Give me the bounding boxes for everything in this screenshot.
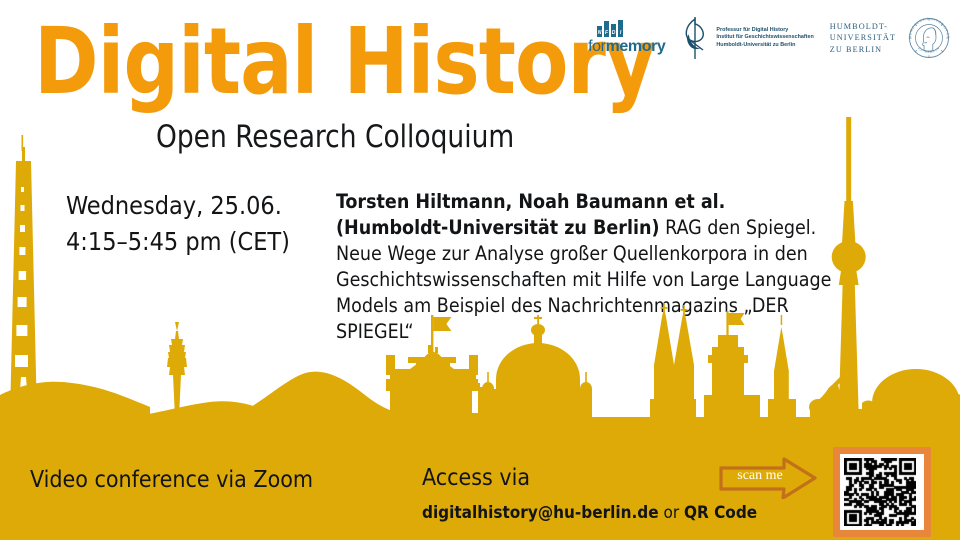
access-or: or xyxy=(659,503,684,523)
access-details: digitalhistory@hu-berlin.de or QR Code xyxy=(422,503,757,523)
formemory-prefix: for xyxy=(588,38,605,55)
hu-seal-icon: HUMBOLDT-UNIVERSITÄT ZU BERLIN xyxy=(904,13,954,63)
qr-code[interactable] xyxy=(844,458,916,526)
hu-wordmark: HUMBOLDT- UNIVERSITÄT ZU BERLIN xyxy=(830,21,896,56)
professur-line-1: Professur für Digital History xyxy=(716,27,813,35)
nfdi-bar-letter: D xyxy=(611,30,616,36)
professur-line-3: Humboldt-Universität zu Berlin xyxy=(716,42,813,50)
title-block: Digital History Open Research Colloquium xyxy=(34,16,614,146)
hu-line-1: HUMBOLDT- xyxy=(830,21,896,33)
event-datetime: Wednesday, 25.06. 4:15–5:45 pm (CET) xyxy=(66,188,290,260)
event-time: 4:15–5:45 pm (CET) xyxy=(66,224,290,260)
event-date: Wednesday, 25.06. xyxy=(66,188,290,224)
humboldt-universitaet-logo: HUMBOLDT- UNIVERSITÄT ZU BERLIN xyxy=(830,13,954,63)
formemory-wordmark: formemory xyxy=(588,38,665,56)
formemory-main: memory xyxy=(606,38,666,55)
access-email[interactable]: digitalhistory@hu-berlin.de xyxy=(422,503,659,523)
nfdi-bar-letter: F xyxy=(604,30,609,36)
nfdi-bar-letter: I xyxy=(618,30,623,36)
hu-seal-bottom-text: ZU BERLIN xyxy=(917,46,940,54)
qr-code-quiet-zone xyxy=(840,454,924,530)
svg-text:ZU BERLIN: ZU BERLIN xyxy=(917,46,940,54)
professur-text-block: Professur für Digital History Institut f… xyxy=(716,27,813,50)
nfdi-bars-icon: N F D I xyxy=(597,20,623,37)
nfdi4memory-logo: N F D I formemory xyxy=(588,20,665,56)
page-subtitle: Open Research Colloquium xyxy=(156,120,514,154)
nfdi-bar-letter: N xyxy=(597,30,602,36)
access-heading: Access via xyxy=(422,465,530,491)
talk-info: Torsten Hiltmann, Noah Baumann et al. (H… xyxy=(336,189,836,345)
professur-line-2: Institut für Geschichtswissenschaften xyxy=(716,34,813,42)
logo-bar: N F D I formemory Professur für Digital … xyxy=(588,8,954,68)
poster-slide: Digital History Open Research Colloquium… xyxy=(0,0,960,540)
hu-line-2: UNIVERSITÄT xyxy=(830,32,896,44)
professur-digital-history-logo: Professur für Digital History Institut f… xyxy=(681,16,813,60)
access-qr-label: QR Code xyxy=(684,503,757,523)
video-conference-text: Video conference via Zoom xyxy=(30,467,313,493)
qr-code-frame[interactable] xyxy=(833,447,931,537)
scan-me-label: scan me xyxy=(729,467,791,485)
hu-institute-mark-icon xyxy=(681,16,709,60)
hu-line-3: ZU BERLIN xyxy=(830,44,896,56)
page-title: Digital History xyxy=(34,12,655,112)
